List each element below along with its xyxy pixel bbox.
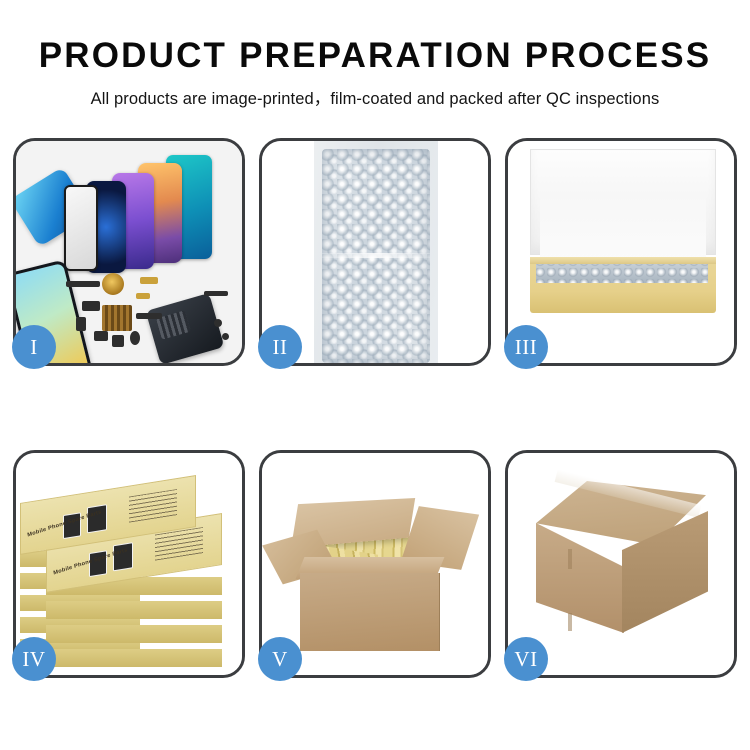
product-preparation-infographic: PRODUCT PREPARATION PROCESS All products… (0, 0, 750, 750)
gold-part-2 (136, 293, 150, 299)
step-5-image (262, 453, 488, 675)
steps-grid: I II III (13, 138, 738, 678)
flex-cable-part (66, 281, 100, 287)
step-6-image (508, 453, 734, 675)
page-subtitle: All products are image-printed，film-coat… (0, 76, 750, 109)
step-4-image: Mobile Phone Spare Parts Mobile Phone Sp… (16, 453, 242, 675)
stack-box-edge-8 (46, 601, 222, 619)
page-title: PRODUCT PREPARATION PROCESS (0, 0, 750, 76)
step-1-image (16, 141, 242, 363)
screw-part-2 (222, 333, 229, 340)
step-panel-6: VI (505, 450, 737, 678)
header: PRODUCT PREPARATION PROCESS All products… (0, 0, 750, 109)
small-part-4 (112, 335, 124, 347)
small-part-3 (94, 331, 108, 341)
gold-part-1 (140, 277, 158, 284)
flex-cable-part-2 (136, 313, 162, 319)
small-part-1 (82, 301, 100, 311)
step-badge-1: I (12, 325, 56, 369)
small-part-5 (130, 331, 140, 345)
step-badge-4: IV (12, 637, 56, 681)
step-panel-1: I (13, 138, 245, 366)
stack-box-edge-7 (46, 625, 222, 643)
screw-part-1 (214, 319, 222, 327)
step-panel-2: II (259, 138, 491, 366)
step-panel-5: V (259, 450, 491, 678)
step-panel-3: III (505, 138, 737, 366)
tool-part (204, 291, 228, 296)
connector-grid-part (102, 305, 132, 331)
sealed-carton-left-face (536, 523, 624, 633)
phone-e (64, 185, 98, 271)
step-2-image (262, 141, 488, 363)
carton-seam-2 (568, 613, 572, 631)
stack-box-edge-6 (46, 649, 222, 667)
phone-backplate (146, 293, 225, 363)
carton-seam-1 (568, 549, 572, 569)
step-panel-4: Mobile Phone Spare Parts Mobile Phone Sp… (13, 450, 245, 678)
step-badge-6: VI (504, 637, 548, 681)
box-stack: Mobile Phone Spare Parts Mobile Phone Sp… (16, 453, 242, 675)
step-badge-3: III (504, 325, 548, 369)
step-3-image (508, 141, 734, 363)
carton-front-face (300, 573, 440, 651)
inner-box-lid-face (540, 193, 706, 263)
lid-spec-lines-1 (129, 489, 177, 523)
step-badge-2: II (258, 325, 302, 369)
inner-box-lip (530, 257, 716, 264)
small-part-2 (76, 317, 86, 331)
bubble-wrap-seam (322, 253, 430, 258)
step-badge-5: V (258, 637, 302, 681)
wireless-coil-part (102, 273, 124, 295)
